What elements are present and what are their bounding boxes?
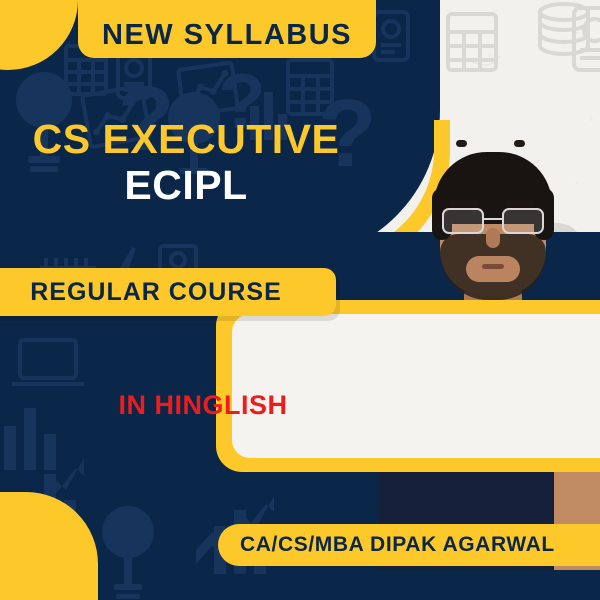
course-title-line2: ECIPL: [0, 163, 372, 208]
faculty-badge: CA/CS/MBA DIPAK AGARWAL: [218, 524, 600, 566]
photo-eyeglasses: [440, 208, 548, 234]
language-label: IN HINGLISH: [88, 390, 318, 421]
hinglish-card: [232, 314, 600, 458]
photo-eye-left: [456, 140, 467, 147]
photo-chin: [466, 256, 520, 282]
photo-eyebrow-right: [504, 200, 536, 206]
photo-lens-left: [442, 208, 484, 234]
course-title-line1: CS EXECUTIVE: [0, 118, 372, 161]
course-poster: ?: [0, 0, 600, 600]
photo-eyebrow-left: [448, 200, 480, 206]
faculty-name-label: CA/CS/MBA DIPAK AGARWAL: [240, 533, 555, 557]
photo-mouth: [482, 264, 504, 269]
course-type-label: REGULAR COURSE: [30, 278, 282, 307]
course-type-badge: REGULAR COURSE: [0, 268, 336, 316]
new-syllabus-label: NEW SYLLABUS: [102, 21, 352, 50]
photo-lens-right: [502, 208, 544, 234]
new-syllabus-badge: NEW SYLLABUS: [78, 0, 376, 58]
photo-glasses-bridge: [484, 218, 502, 220]
photo-eye-right: [514, 140, 525, 147]
course-title: CS EXECUTIVE ECIPL: [0, 118, 372, 208]
